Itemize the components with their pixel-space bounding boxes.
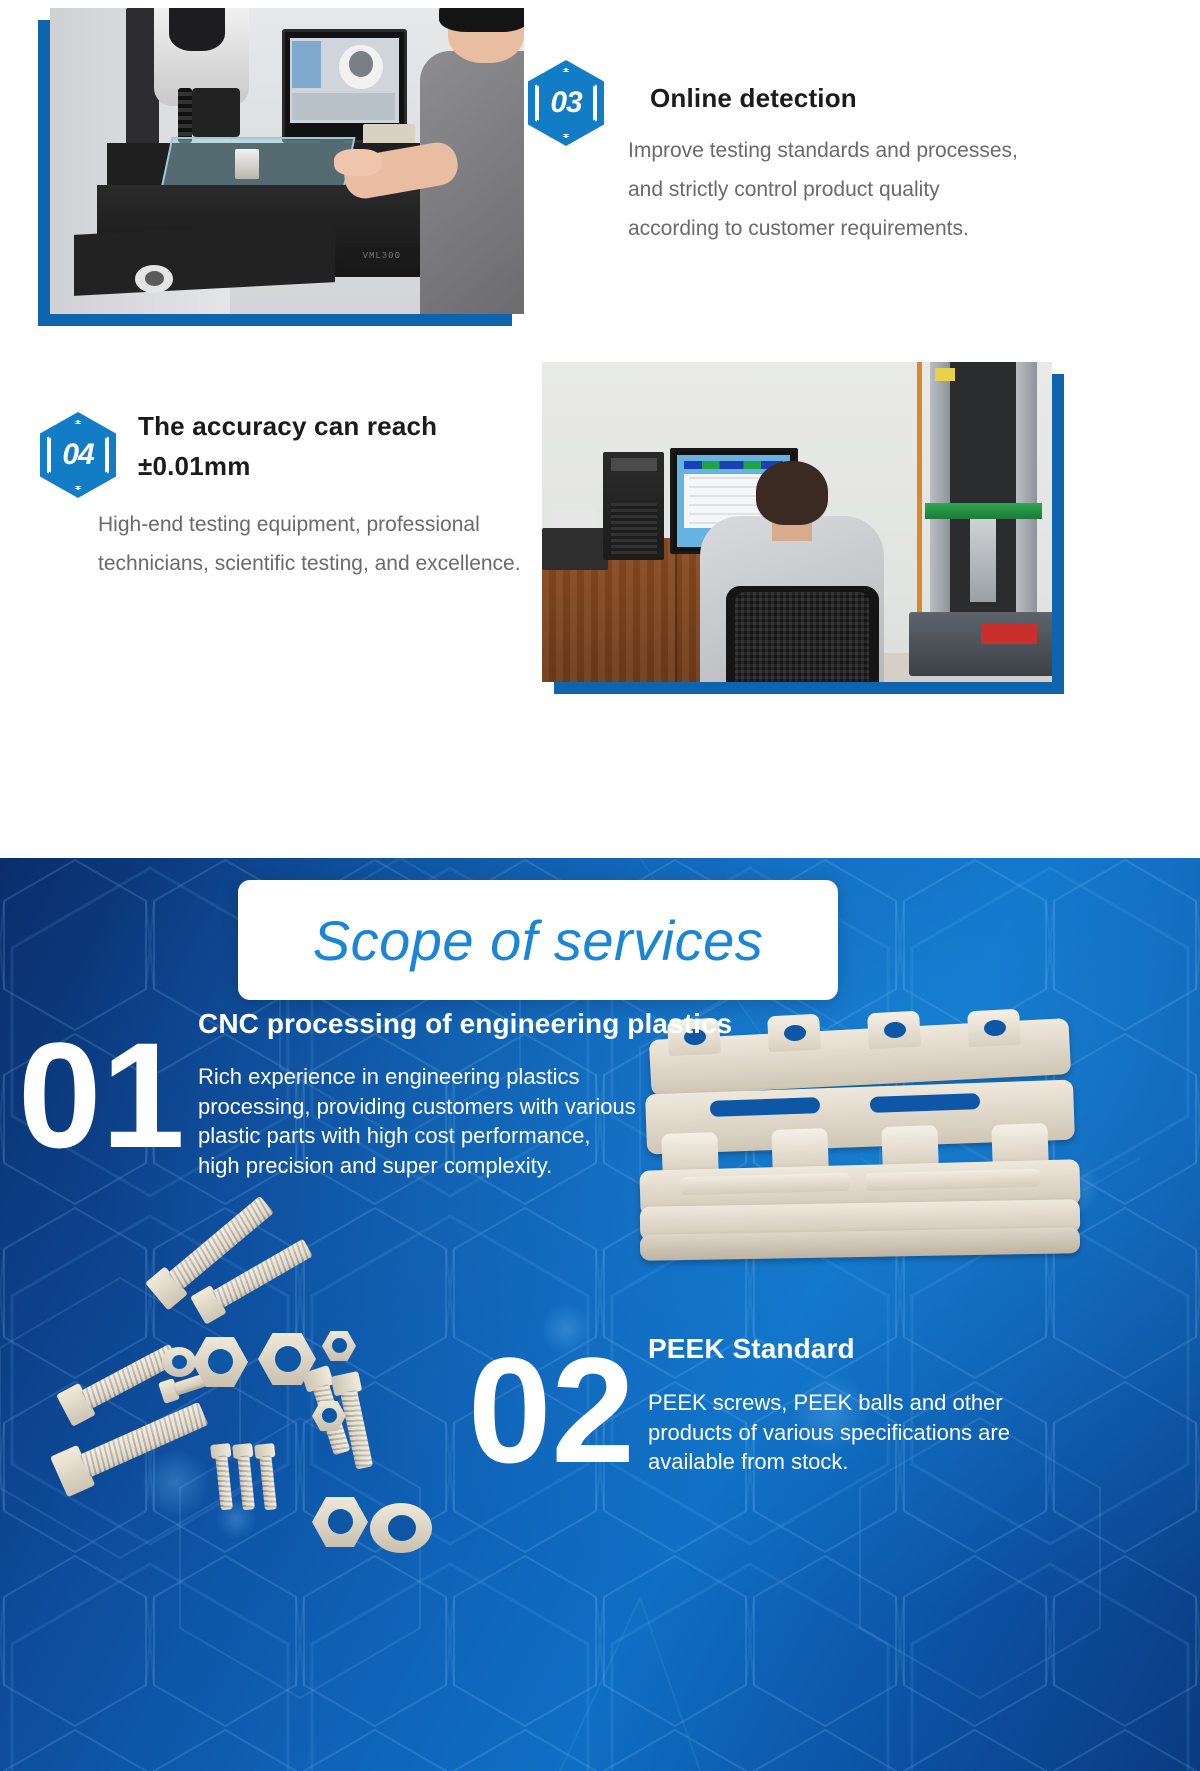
accuracy-photo (542, 362, 1052, 682)
scope-of-services-title-card: Scope of services (238, 880, 838, 1000)
photo-frame-bottom-bar (38, 314, 512, 326)
feature-number-04: 04 (40, 412, 116, 498)
online-detection-photo-frame: VML300 (38, 8, 524, 326)
service-title-02: PEEK Standard (648, 1333, 1068, 1365)
peek-screws-product-image (40, 1275, 470, 1565)
feature-badge-04: 04 (40, 412, 116, 498)
feature-title-03: Online detection (650, 78, 1050, 118)
service-body-02: PEEK screws, PEEK balls and other produc… (648, 1388, 1068, 1477)
online-detection-photo: VML300 (50, 8, 524, 314)
peek-chain-plate-product-image (640, 1025, 1080, 1260)
feature-badge-03: 03 (528, 60, 604, 146)
features-section: VML300 03 Online detection Improve testi… (0, 0, 1200, 858)
accuracy-photo-frame (542, 362, 1064, 694)
photo-frame-left-bar (38, 20, 50, 326)
service-body-01: Rich experience in engineering plastics … (198, 1062, 638, 1181)
photo-frame-bottom-bar (554, 682, 1064, 694)
service-number-02: 02 (468, 1335, 635, 1485)
feature-body-04: High-end testing equipment, professional… (98, 506, 548, 584)
feature-number-03: 03 (528, 60, 604, 146)
photo-frame-right-bar (1052, 374, 1064, 694)
service-number-01: 01 (18, 1020, 185, 1170)
feature-body-03: Improve testing standards and processes,… (628, 132, 1028, 249)
service-title-01: CNC processing of engineering plastics (198, 1008, 958, 1040)
feature-title-04: The accuracy can reach ±0.01mm (138, 406, 538, 487)
scope-of-services-heading: Scope of services (313, 908, 763, 973)
